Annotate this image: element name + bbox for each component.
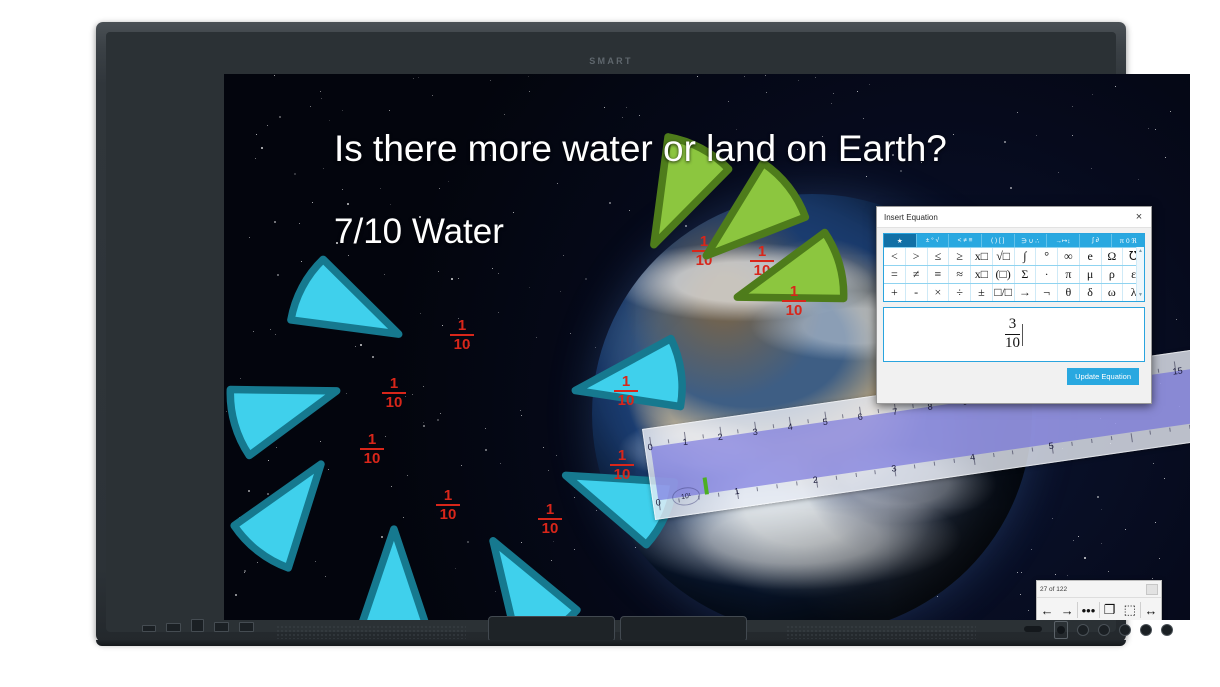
palette-symbol-1-6[interactable]: √□ (993, 248, 1015, 265)
freeze-button[interactable] (1161, 624, 1173, 636)
port-usb-c-icon (166, 623, 181, 632)
palette-grid[interactable]: <>≤≥x□√□∫°∞eΩ℧=≠≡≈x□(□)Σ·πμρε+-×÷±□/□→¬θ… (884, 247, 1144, 301)
palette-symbol-3-11[interactable]: ω (1102, 284, 1124, 301)
palette-symbol-2-3[interactable]: ≡ (928, 266, 950, 283)
input-button[interactable] (1077, 624, 1089, 636)
hardware-buttons[interactable] (1054, 621, 1173, 639)
screen-view-button[interactable]: ⬚ (1120, 598, 1140, 620)
port-usb-b-icon (191, 619, 204, 632)
ruler-tick (835, 476, 837, 480)
palette-symbol-1-2[interactable]: > (906, 248, 928, 265)
tab-brackets[interactable]: ( ) [ ] (982, 234, 1015, 247)
ruler-tick (912, 404, 914, 408)
ruler-tick (1091, 439, 1093, 443)
palette-symbol-2-1[interactable]: = (884, 266, 906, 283)
palette-symbol-3-5[interactable]: ± (971, 284, 993, 301)
ruler-tick (1110, 436, 1112, 440)
page-nav-header: 27 of 122 (1037, 581, 1161, 598)
palette-scrollbar[interactable]: ▲ ▼ (1136, 247, 1144, 301)
land-wedge-3[interactable]: 110 (724, 232, 852, 360)
ruler-tick (914, 464, 916, 468)
pen-tray-right (620, 616, 747, 642)
palette-symbol-3-8[interactable]: ¬ (1036, 284, 1058, 301)
ir-receiver (1024, 626, 1042, 632)
palette-symbol-1-1[interactable]: < (884, 248, 906, 265)
ruler-tick (842, 414, 844, 418)
tab-calculus[interactable]: ∫ ∂ (1080, 234, 1113, 247)
ruler-tick (717, 493, 719, 497)
scroll-down-icon[interactable]: ▼ (1138, 292, 1143, 300)
tab-greek[interactable]: π 0 ℜ (1112, 234, 1144, 247)
wedge-fraction-label: 110 (436, 488, 460, 522)
text-caret (1022, 324, 1023, 346)
close-icon[interactable]: × (1131, 210, 1147, 224)
dialog-title-bar[interactable]: Insert Equation × (877, 207, 1151, 228)
ruler-tick (1071, 442, 1073, 446)
palette-row-1: <>≤≥x□√□∫°∞eΩ℧ (884, 247, 1144, 265)
palette-row-2: =≠≡≈x□(□)Σ·πμρε (884, 265, 1144, 283)
ruler-tick (953, 459, 955, 463)
ruler-tick (796, 481, 798, 485)
tab-sets[interactable]: ∋ ∪ ∴ (1015, 234, 1048, 247)
tab-relations[interactable]: < ≠ ≡ (949, 234, 982, 247)
ruler-tick (1032, 447, 1034, 451)
menu-button[interactable] (1140, 624, 1152, 636)
wedge-fraction-label: 110 (610, 448, 634, 482)
palette-symbol-3-6[interactable]: □/□ (993, 284, 1015, 301)
dialog-footer: Update Equation (883, 362, 1145, 385)
expand-button[interactable]: ↔ (1141, 598, 1161, 620)
palette-symbol-3-10[interactable]: δ (1080, 284, 1102, 301)
equation-denominator: 10 (1005, 336, 1020, 352)
ruler-cm-label: 15 (1172, 365, 1183, 376)
ruler-tick (1157, 369, 1159, 373)
port-usb-a-icon (214, 622, 229, 632)
previous-page-button[interactable]: ← (1037, 598, 1057, 620)
pen-tray-left (488, 616, 615, 642)
wedge-fraction-label: 110 (360, 432, 384, 466)
ruler-tick (855, 473, 857, 477)
scroll-up-icon[interactable]: ▲ (1138, 248, 1143, 256)
port-display-icon (239, 622, 254, 632)
ruler-tick (1130, 433, 1132, 442)
ruler-tick (1012, 450, 1014, 454)
ruler-tick (1169, 428, 1171, 432)
ruler-tick (1150, 430, 1152, 434)
palette-symbol-1-4[interactable]: ≥ (949, 248, 971, 265)
display-base (96, 640, 1126, 646)
ruler-tick (875, 470, 877, 474)
smart-brand-logo: SMART (96, 56, 1126, 66)
ruler-tick (772, 424, 774, 428)
speaker-grille-left (276, 625, 466, 639)
power-button[interactable] (1054, 621, 1068, 639)
ruler-tick (807, 419, 809, 423)
slide-title: Is there more water or land on Earth? (334, 128, 947, 170)
page-nav-buttons[interactable]: ←→•••❐⬚↔ (1037, 598, 1161, 620)
screenshot-root: SMART 110110110110110110110110110110 Is … (0, 0, 1220, 687)
palette-symbol-1-9[interactable]: ∞ (1058, 248, 1080, 265)
ruler-tick (737, 429, 739, 433)
palette-symbol-1-10[interactable]: e (1080, 248, 1102, 265)
page-view-button[interactable]: ❐ (1100, 598, 1120, 620)
palette-symbol-3-2[interactable]: - (906, 284, 928, 301)
tab-arrows[interactable]: →↦↕ (1047, 234, 1080, 247)
display-screen[interactable]: 110110110110110110110110110110 Is there … (224, 74, 1190, 620)
ruler-tick (1189, 425, 1190, 429)
smart-board-display: SMART 110110110110110110110110110110 Is … (96, 22, 1126, 642)
nav-collapse-button[interactable] (1146, 584, 1158, 595)
palette-symbol-2-4[interactable]: ≈ (949, 266, 971, 283)
tab-favorites[interactable]: ★ (884, 234, 917, 247)
palette-symbol-1-3[interactable]: ≤ (928, 248, 950, 265)
palette-symbol-3-3[interactable]: × (928, 284, 950, 301)
page-counter: 27 of 122 (1040, 586, 1146, 593)
dialog-title: Insert Equation (884, 213, 1131, 222)
ruler-tick (934, 462, 936, 466)
ruler-tick (776, 484, 778, 488)
more-options-button[interactable]: ••• (1078, 598, 1098, 620)
next-page-button[interactable]: → (1057, 598, 1077, 620)
ruler-tick (993, 453, 995, 457)
equation-fraction: 3 10 (1005, 317, 1020, 352)
palette-tab-bar[interactable]: ★± ° √< ≠ ≡( ) [ ]∋ ∪ ∴→↦↕∫ ∂π 0 ℜ (884, 234, 1144, 247)
ruler-tick (702, 434, 704, 438)
palette-symbol-1-7[interactable]: ∫ (1015, 248, 1037, 265)
palette-symbol-2-5[interactable]: x□ (971, 266, 993, 283)
equation-numerator: 3 (1005, 317, 1020, 333)
port-hdmi-icon (142, 625, 156, 632)
palette-symbol-2-6[interactable]: (□) (993, 266, 1015, 283)
wedge-fraction-label: 110 (614, 374, 638, 408)
tab-operators[interactable]: ± ° √ (917, 234, 950, 247)
palette-symbol-3-4[interactable]: ÷ (949, 284, 971, 301)
slide-subtitle: 7/10 Water (334, 212, 504, 252)
wedge-fraction-label: 110 (782, 284, 806, 318)
ruler-tick (877, 409, 879, 413)
io-ports (142, 619, 254, 632)
palette-symbol-1-5[interactable]: x□ (971, 248, 993, 265)
symbol-palette[interactable]: ★± ° √< ≠ ≡( ) [ ]∋ ∪ ∴→↦↕∫ ∂π 0 ℜ <>≤≥x… (883, 233, 1145, 302)
update-equation-button[interactable]: Update Equation (1067, 368, 1139, 385)
palette-row-3: +-×÷±□/□→¬θδωλ (884, 283, 1144, 301)
volume-down-button[interactable] (1098, 624, 1110, 636)
dialog-body: ★± ° √< ≠ ≡( ) [ ]∋ ∪ ∴→↦↕∫ ∂π 0 ℜ <>≤≥x… (877, 228, 1151, 385)
palette-symbol-2-7[interactable]: Σ (1015, 266, 1037, 283)
palette-symbol-2-2[interactable]: ≠ (906, 266, 928, 283)
palette-symbol-2-10[interactable]: μ (1080, 266, 1102, 283)
palette-symbol-2-9[interactable]: π (1058, 266, 1080, 283)
volume-up-button[interactable] (1119, 624, 1131, 636)
palette-symbol-2-8[interactable]: · (1036, 266, 1058, 283)
palette-symbol-3-7[interactable]: → (1015, 284, 1037, 301)
palette-symbol-3-9[interactable]: θ (1058, 284, 1080, 301)
palette-symbol-2-11[interactable]: ρ (1102, 266, 1124, 283)
palette-symbol-1-11[interactable]: Ω (1102, 248, 1124, 265)
ruler-tick (667, 439, 669, 443)
palette-symbol-3-1[interactable]: + (884, 284, 906, 301)
page-nav-widget[interactable]: 27 of 122 ←→•••❐⬚↔ (1036, 580, 1162, 620)
ruler-tick (757, 487, 759, 491)
equation-input-field[interactable]: 3 10 (883, 307, 1145, 362)
insert-equation-dialog[interactable]: Insert Equation × ★± ° √< ≠ ≡( ) [ ]∋ ∪ … (876, 206, 1152, 404)
speaker-grille-right (786, 625, 976, 639)
palette-symbol-1-8[interactable]: ° (1036, 248, 1058, 265)
